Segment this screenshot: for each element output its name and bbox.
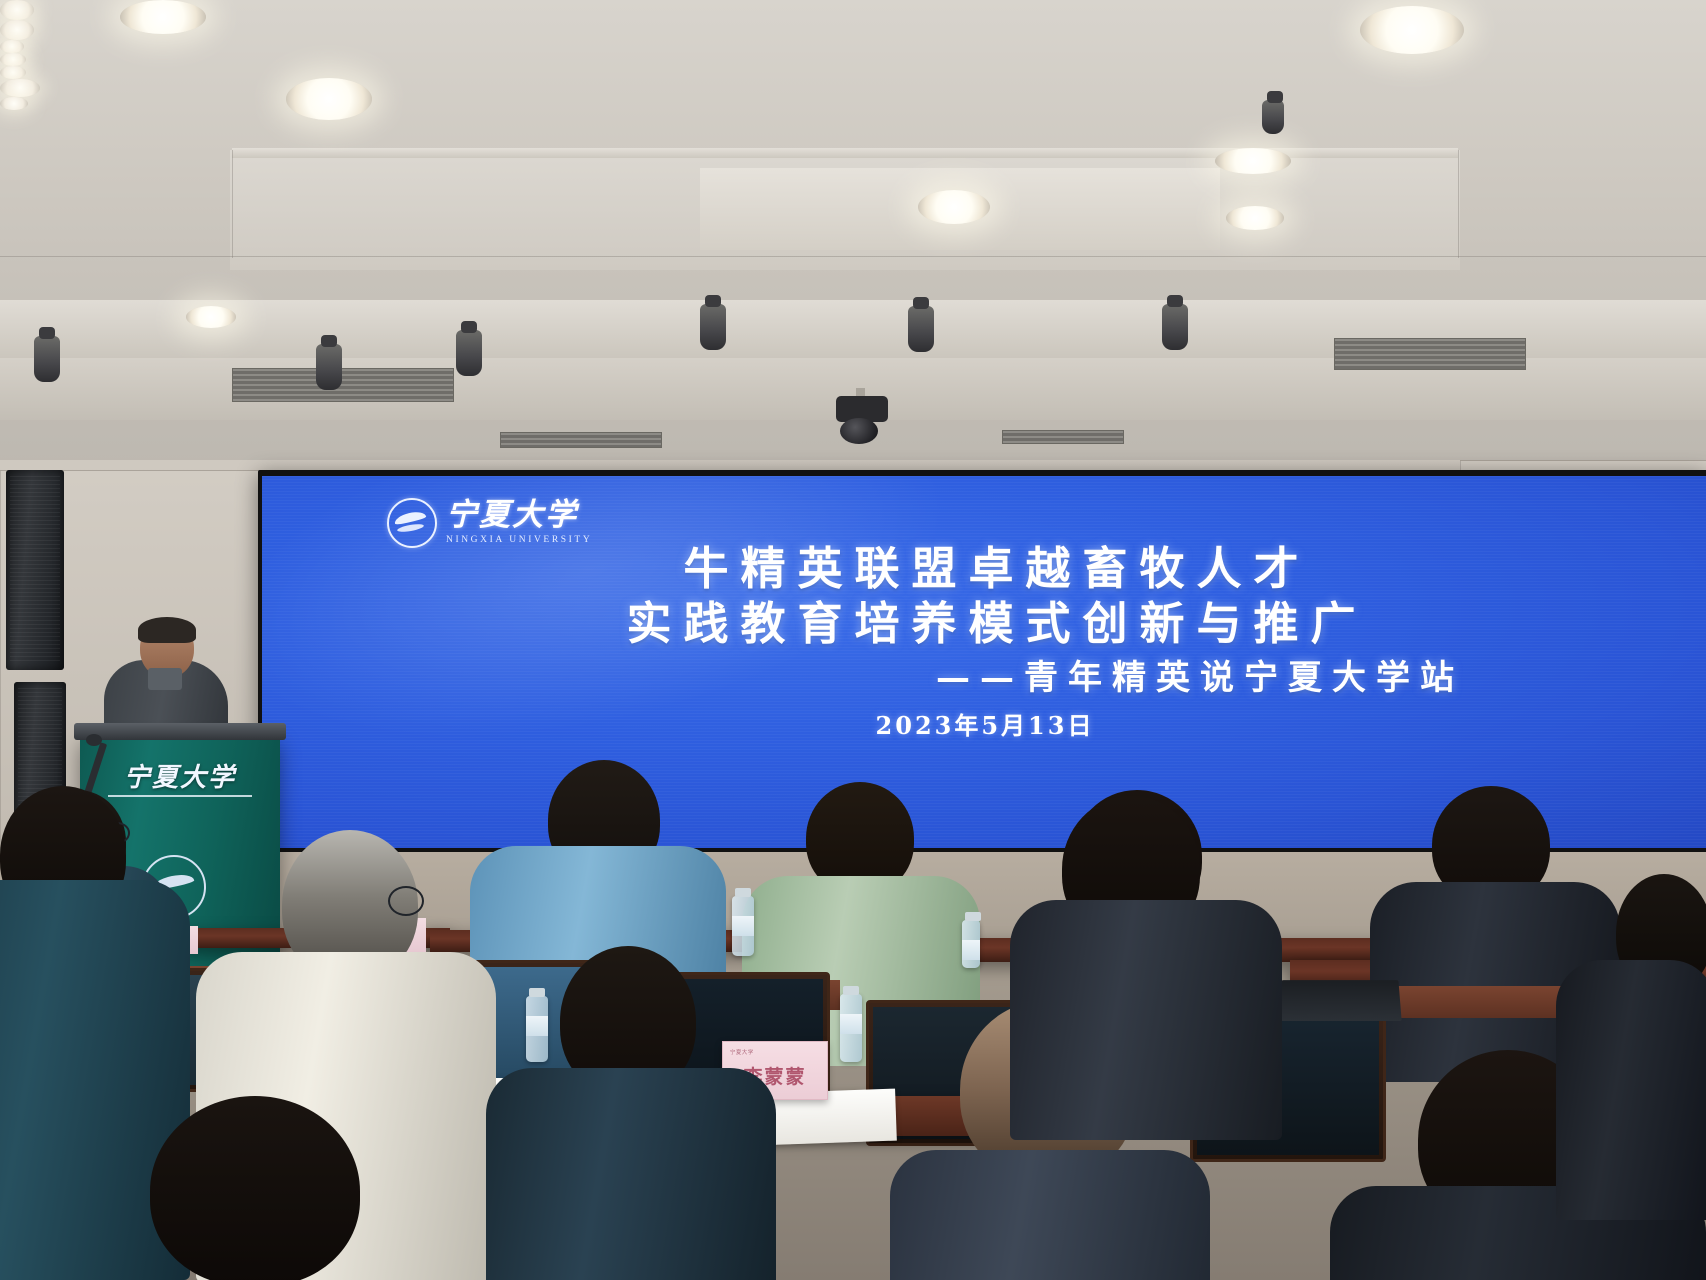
wall-speaker-left (6, 470, 64, 670)
track-spotlight-3 (456, 330, 482, 376)
ceiling (0, 0, 1706, 470)
ceiling-seam-1 (0, 256, 1706, 257)
downlight-1 (120, 0, 206, 34)
downlight-13 (0, 79, 40, 97)
bottle-label (840, 1014, 862, 1034)
screen-title-line-3: ——青年精英说宁夏大学站 (262, 652, 1706, 704)
lectern-rule (108, 795, 252, 797)
track-spotlight-7 (1262, 100, 1284, 134)
downlight-2 (1360, 6, 1464, 54)
university-logo: 宁夏大学 NINGXIA UNIVERSITY (387, 498, 592, 548)
water-bottle-4[interactable] (962, 920, 980, 968)
wave-circle-emblem-icon (387, 498, 437, 548)
shoulders (1010, 900, 1282, 1140)
downlight-10 (0, 53, 26, 66)
shoulders (1556, 960, 1706, 1220)
bottle-cap (843, 986, 859, 995)
screen-title-line-1: 牛精英联盟卓越畜牧人才 (262, 542, 1706, 596)
conference-hall-photo: 宁夏大学 NINGXIA UNIVERSITY 牛精英联盟卓越畜牧人才 实践教育… (0, 0, 1706, 1280)
downlight-4 (1215, 148, 1291, 174)
bottle-label (732, 916, 754, 936)
lectern-desktop (74, 723, 286, 740)
bottle-cap (735, 888, 751, 897)
presenter-hair (138, 617, 196, 643)
track-spotlight-6 (1162, 304, 1188, 350)
track-spotlight-1 (34, 336, 60, 382)
speaker-grill-left (10, 476, 60, 664)
bottle-cap (965, 912, 981, 921)
screen-date: 2023年5月13日 (262, 704, 1706, 748)
downlight-5 (918, 190, 990, 224)
ceiling-vent-center (1002, 430, 1124, 444)
shoulders (486, 1068, 776, 1280)
projector-lens (840, 418, 878, 444)
ceiling-vent-right (1334, 338, 1526, 370)
bottle-cap (529, 988, 545, 997)
downlight-9 (0, 40, 24, 53)
water-bottle-3[interactable] (840, 994, 862, 1062)
glasses-icon (388, 886, 424, 916)
ceiling-vent-left-2 (500, 432, 662, 448)
downlight-3 (286, 78, 372, 120)
downlight-8 (0, 20, 34, 40)
track-spotlight-5 (908, 306, 934, 352)
downlight-12 (186, 306, 236, 328)
nameplate-org: 宁夏大学 (730, 1048, 754, 1056)
shoulders (890, 1150, 1210, 1280)
ceiling-edge-right (1458, 150, 1459, 258)
downlight-14 (0, 97, 28, 110)
microphone-head (86, 734, 102, 746)
screen-title-block: 牛精英联盟卓越畜牧人才 实践教育培养模式创新与推广 ——青年精英说宁夏大学站 2… (262, 542, 1706, 748)
downlight-7 (0, 0, 34, 20)
ceiling-vent-left (232, 368, 454, 402)
lectern-brand-text: 宁夏大学 (80, 757, 280, 794)
laptop-device[interactable] (1278, 980, 1401, 1021)
ceiling-edge-left (232, 150, 233, 258)
university-name-cn: 宁夏大学 (446, 500, 592, 531)
downlight-11 (0, 66, 26, 79)
water-bottle-2[interactable] (526, 996, 548, 1062)
bottle-label (962, 940, 980, 960)
track-spotlight-4 (700, 304, 726, 350)
water-bottle-1[interactable] (732, 896, 754, 956)
head (150, 1096, 360, 1280)
bottle-label (526, 1016, 548, 1036)
track-spotlight-2 (316, 344, 342, 390)
presenter-collar (148, 668, 182, 690)
downlight-6 (1226, 206, 1284, 230)
screen-title-line-2: 实践教育培养模式创新与推广 (262, 596, 1706, 652)
